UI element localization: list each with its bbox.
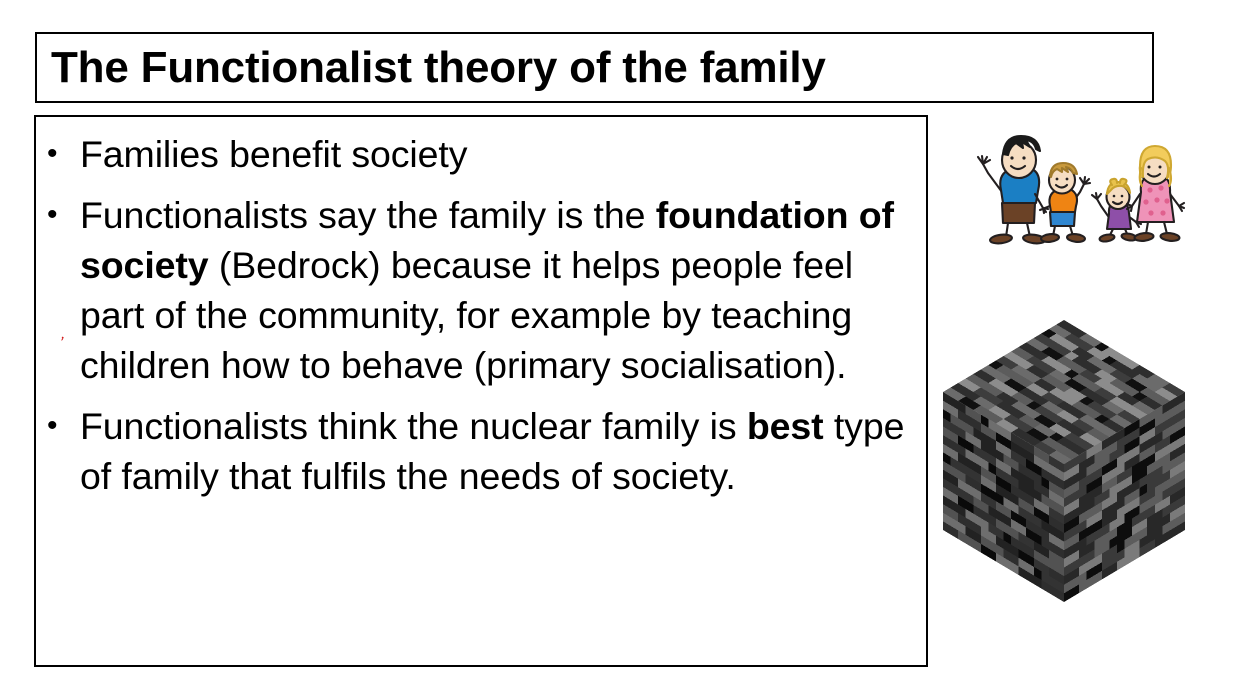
- list-item: Families benefit society: [47, 129, 916, 179]
- family-figure-daughter: [1092, 179, 1141, 243]
- family-figure-mother: [1127, 146, 1184, 242]
- page-title: The Functionalist theory of the family: [37, 46, 826, 90]
- list-item: Functionalists think the nuclear family …: [47, 401, 916, 501]
- emphasis-run: best: [747, 405, 824, 447]
- bullet-3-text: Functionalists think the nuclear family …: [80, 405, 904, 497]
- family-clipart-image: [958, 128, 1190, 246]
- text-run: Families benefit society: [80, 133, 467, 175]
- text-run: Functionalists say the family is the: [80, 194, 656, 236]
- bullet-list: Families benefit society Functionalists …: [36, 117, 926, 501]
- list-item: Functionalists say the family is the fou…: [47, 190, 916, 390]
- family-figure-father: [978, 136, 1048, 245]
- bullet-1-text: Families benefit society: [80, 133, 467, 175]
- text-run: Functionalists think the nuclear family …: [80, 405, 747, 447]
- bedrock-block-image: [941, 318, 1187, 604]
- bullet-2-text: Functionalists say the family is the fou…: [80, 194, 894, 386]
- title-placeholder[interactable]: The Functionalist theory of the family: [35, 32, 1154, 103]
- slide-canvas: The Functionalist theory of the family F…: [0, 0, 1240, 692]
- family-figure-son: [1040, 163, 1090, 243]
- body-placeholder[interactable]: Families benefit society Functionalists …: [34, 115, 928, 667]
